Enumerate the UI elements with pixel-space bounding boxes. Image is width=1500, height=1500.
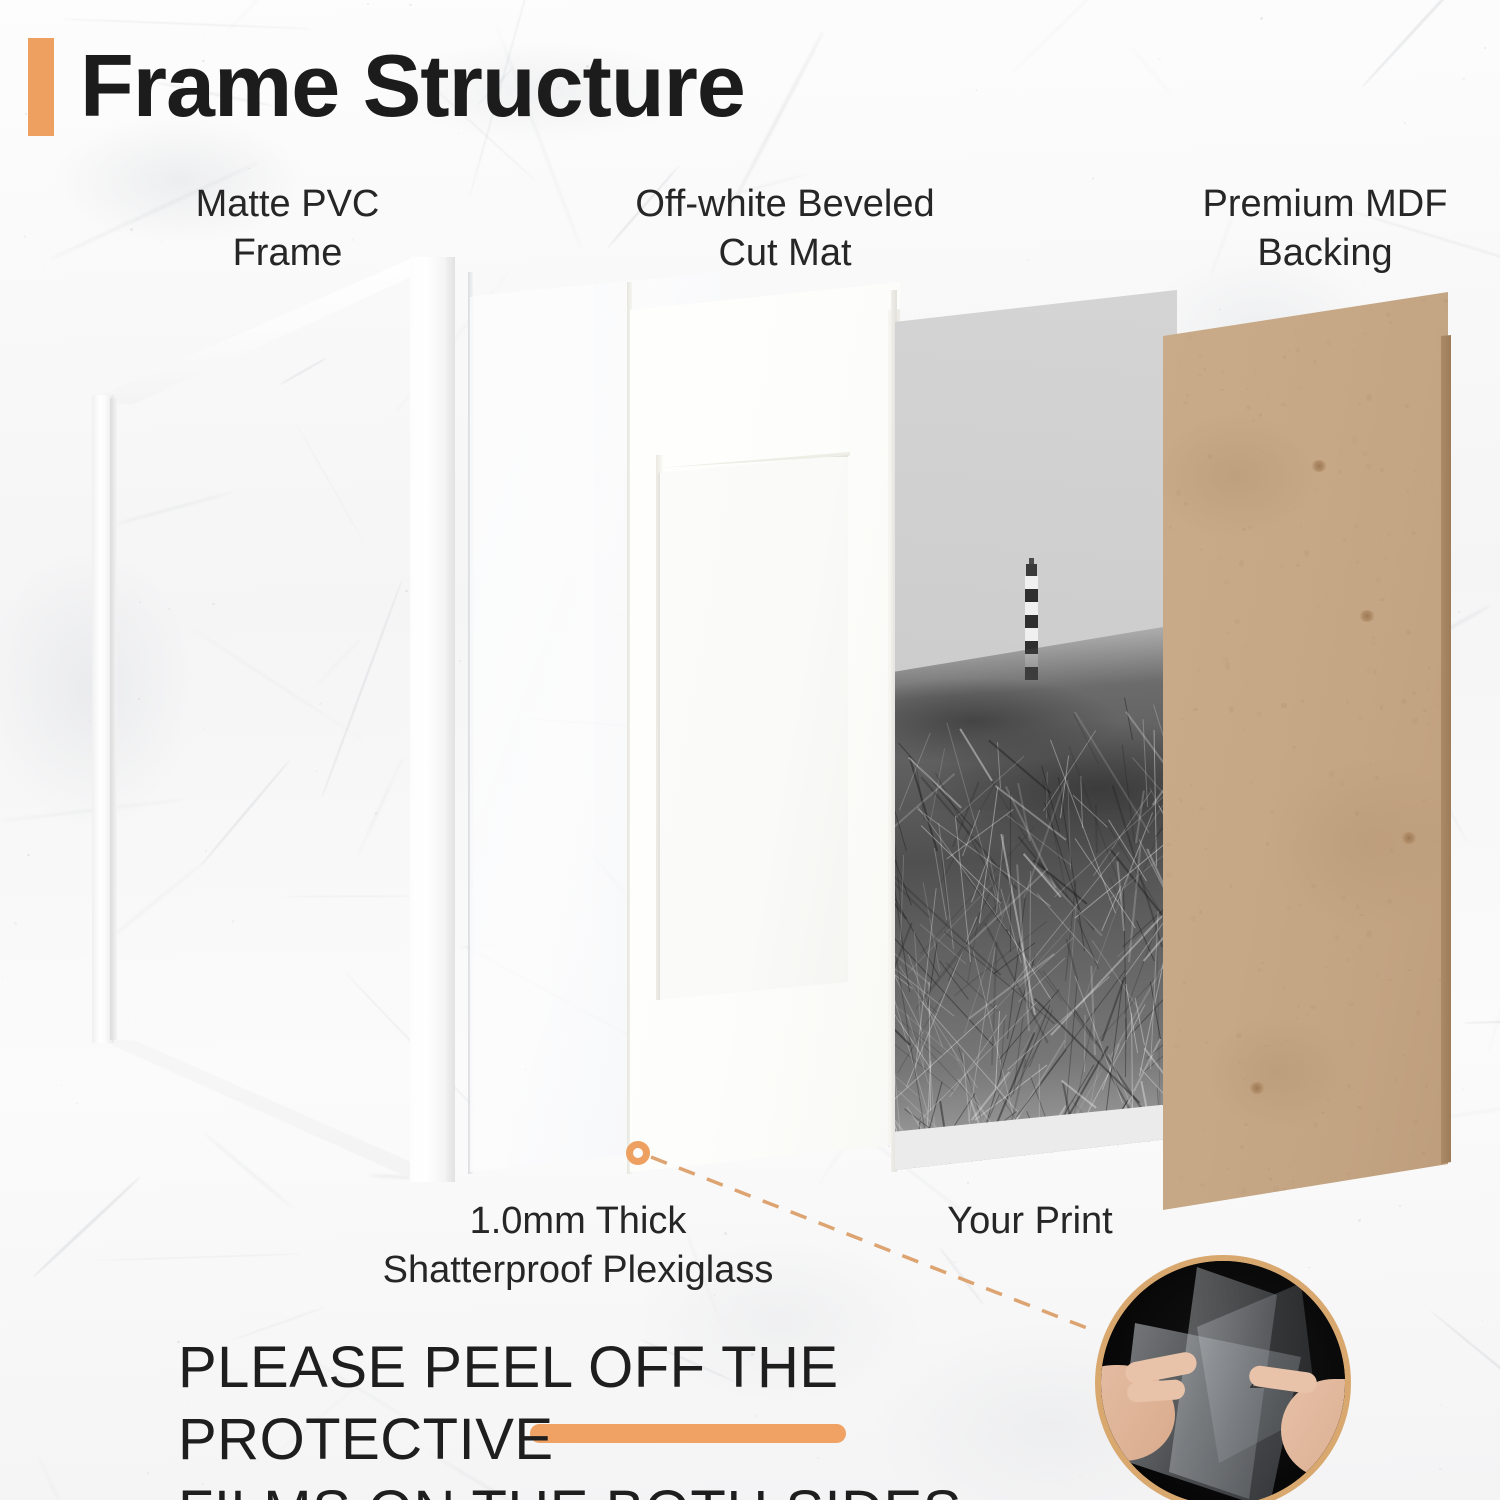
mdf-grain-fleck [1186, 394, 1189, 397]
mdf-grain-fleck [1314, 1079, 1316, 1081]
marble-speck [1031, 192, 1032, 193]
mdf-grain-fleck [1414, 470, 1417, 472]
title-accent-bar [28, 38, 54, 136]
mdf-grain-fleck [1403, 787, 1404, 788]
mdf-grain-fleck [1387, 899, 1392, 904]
mdf-grain-fleck [1380, 705, 1383, 709]
mdf-grain-fleck [1179, 1176, 1184, 1183]
mdf-grain-fleck [1301, 699, 1304, 703]
mdf-grain-fleck [1406, 630, 1411, 635]
mdf-grain-fleck [1292, 746, 1296, 749]
mdf-grain-fleck [1358, 825, 1359, 826]
mdf-grain-fleck [1240, 1145, 1244, 1149]
mdf-grain-fleck [1243, 698, 1244, 699]
mdf-grain-fleck [1275, 633, 1277, 634]
mdf-grain-fleck [1353, 350, 1355, 353]
mdf-grain-fleck [1169, 526, 1172, 529]
mdf-grain-fleck [1437, 705, 1438, 707]
mdf-grain-fleck [1197, 739, 1198, 740]
mdf-grain-fleck [1300, 525, 1302, 527]
mdf-grain-fleck [1280, 867, 1282, 868]
mdf-grain-fleck [1363, 332, 1367, 335]
mdf-grain-fleck [1341, 1167, 1343, 1169]
mdf-grain-fleck [1306, 873, 1308, 875]
marble-speck [14, 922, 17, 925]
mdf-grain-fleck [1179, 798, 1183, 803]
mdf-grain-fleck [1257, 687, 1259, 689]
mdf-grain-fleck [1382, 557, 1387, 560]
mdf-grain-fleck [1405, 404, 1409, 408]
mdf-grain-fleck [1326, 340, 1331, 346]
mdf-grain-fleck [1443, 299, 1448, 303]
mdf-grain-fleck [1267, 397, 1269, 398]
mdf-grain-fleck [1407, 787, 1409, 788]
marble-speck [43, 265, 44, 266]
mdf-grain-fleck [1184, 502, 1187, 506]
mdf-knot [1359, 610, 1375, 622]
mdf-grain-fleck [1287, 349, 1290, 351]
grass-blade [956, 756, 1024, 817]
mdf-grain-fleck [1296, 564, 1300, 567]
mdf-grain-fleck [1401, 699, 1407, 704]
mdf-grain-fleck [1188, 335, 1193, 341]
mdf-grain-fleck [1166, 843, 1171, 846]
mdf-grain-fleck [1386, 312, 1391, 317]
mdf-grain-fleck [1190, 784, 1193, 787]
mdf-grain-fleck [1422, 799, 1426, 802]
warning-text: PLEASE PEEL OFF THE PROTECTIVE FILMS ON … [178, 1332, 1078, 1500]
mdf-grain-fleck [1284, 978, 1285, 979]
mdf-grain-fleck [1236, 1033, 1242, 1038]
mdf-grain-fleck [1296, 1017, 1298, 1018]
mdf-grain-fleck [1364, 1122, 1366, 1124]
grass-blade [1125, 1018, 1126, 1077]
mdf-grain-fleck [1370, 666, 1371, 668]
mdf-grain-fleck [1329, 771, 1334, 777]
mdf-grain-fleck [1221, 370, 1225, 375]
mdf-grain-fleck [1229, 884, 1232, 888]
mdf-grain-fleck [1358, 715, 1362, 721]
mdf-grain-fleck [1284, 685, 1286, 686]
mdf-grain-fleck [1266, 842, 1269, 846]
callout-plexiglass-label: 1.0mm Thick Shatterproof Plexiglass [278, 1197, 878, 1295]
mdf-grain-fleck [1226, 1168, 1229, 1170]
mdf-grain-fleck [1289, 1164, 1292, 1167]
mdf-grain-fleck [1395, 855, 1400, 858]
mdf-grain-fleck [1427, 721, 1430, 726]
mdf-grain-fleck [1313, 1122, 1318, 1128]
mdf-grain-fleck [1413, 711, 1415, 712]
grass-blade [1029, 871, 1031, 1008]
mdf-grain-fleck [1257, 711, 1261, 716]
mdf-grain-fleck [1220, 389, 1224, 392]
mdf-grain-fleck [1169, 820, 1171, 822]
mdf-grain-fleck [1358, 402, 1361, 407]
mdf-grain-fleck [1191, 916, 1196, 922]
frame-right-edge [446, 257, 455, 1182]
mdf-grain-fleck [1387, 701, 1389, 702]
mdf-grain-fleck [1242, 727, 1245, 729]
marble-speck [1260, 17, 1263, 20]
marble-speck [1117, 1145, 1119, 1147]
mdf-grain-fleck [1335, 730, 1336, 731]
mdf-grain-fleck [1339, 780, 1345, 786]
mdf-grain-fleck [1347, 1084, 1351, 1089]
mdf-grain-fleck [1242, 528, 1246, 531]
mdf-grain-fleck [1234, 619, 1240, 624]
mdf-grain-fleck [1411, 531, 1416, 535]
mdf-grain-fleck [1189, 1160, 1191, 1161]
protective-film-inset-photo [1095, 1255, 1351, 1500]
mdf-grain-fleck [1299, 1150, 1302, 1152]
marble-speck [1482, 1320, 1483, 1321]
mdf-grain-fleck [1251, 1113, 1253, 1114]
mdf-grain-fleck [1318, 815, 1319, 816]
mdf-grain-fleck [1268, 1168, 1270, 1169]
mdf-grain-fleck [1204, 848, 1207, 850]
mdf-grain-fleck [1183, 981, 1186, 985]
mdf-grain-fleck [1346, 958, 1351, 962]
mat-window-opening [658, 455, 848, 1000]
marble-speck [1027, 259, 1029, 261]
mdf-grain-fleck [1317, 1095, 1320, 1097]
mdf-grain-fleck [1265, 964, 1267, 966]
mdf-grain-fleck [1375, 973, 1380, 977]
mdf-grain-fleck [1360, 888, 1361, 890]
mdf-grain-fleck [1310, 1005, 1316, 1009]
mdf-grain-fleck [1276, 401, 1278, 402]
mdf-grain-fleck [1164, 533, 1166, 535]
marble-speck [409, 4, 412, 7]
frame-opening [117, 403, 411, 1039]
mdf-grain-fleck [1205, 1041, 1208, 1044]
mdf-grain-fleck [1421, 1152, 1425, 1155]
mdf-grain-fleck [1401, 303, 1402, 305]
marble-speck [25, 113, 27, 115]
mdf-grain-fleck [1206, 897, 1207, 898]
mdf-grain-fleck [1311, 884, 1316, 888]
mdf-grain-fleck [1394, 1077, 1399, 1083]
mdf-grain-fleck [1304, 550, 1309, 556]
mdf-grain-fleck [1286, 1040, 1288, 1042]
mdf-grain-fleck [1387, 533, 1392, 538]
mdf-grain-fleck [1350, 1042, 1354, 1044]
mdf-grain-fleck [1335, 935, 1340, 940]
mdf-grain-fleck [1423, 709, 1427, 712]
mdf-grain-fleck [1413, 1120, 1418, 1124]
mdf-grain-fleck [1281, 703, 1287, 708]
mdf-grain-fleck [1369, 690, 1370, 691]
mdf-grain-fleck [1198, 374, 1203, 377]
mdf-grain-fleck [1355, 811, 1359, 816]
mdf-grain-fleck [1298, 844, 1300, 845]
mdf-grain-fleck [1203, 368, 1207, 372]
marble-speck [1440, 1404, 1442, 1406]
mdf-grain-fleck [1403, 1054, 1406, 1057]
mdf-grain-fleck [1178, 364, 1180, 367]
mdf-grain-fleck [1421, 299, 1426, 302]
mdf-grain-fleck [1261, 962, 1265, 964]
mdf-grain-fleck [1348, 1003, 1353, 1006]
mdf-grain-fleck [1270, 810, 1274, 815]
mdf-grain-fleck [1380, 540, 1382, 542]
mdf-grain-fleck [1357, 945, 1362, 949]
mdf-grain-fleck [1264, 1045, 1268, 1047]
mdf-grain-fleck [1379, 598, 1384, 601]
infographic-canvas: Frame Structure Matte PVC Frame Off-whi [0, 0, 1500, 1500]
mdf-grain-fleck [1321, 1112, 1325, 1115]
layer-pvc-frame [60, 255, 490, 1195]
mdf-grain-fleck [1371, 641, 1377, 645]
page-title: Frame Structure [80, 32, 745, 140]
mdf-grain-fleck [1411, 1132, 1413, 1135]
mdf-grain-fleck [1338, 470, 1342, 473]
mdf-grain-fleck [1297, 386, 1301, 391]
callout-mat-label: Off-white Beveled Cut Mat [580, 180, 990, 278]
mdf-grain-fleck [1357, 1092, 1359, 1093]
mdf-grain-fleck [1326, 1099, 1330, 1101]
mdf-grain-fleck [1176, 489, 1181, 496]
mdf-grain-fleck [1410, 1167, 1411, 1168]
grass-blade [1123, 885, 1127, 1040]
mdf-grain-fleck [1349, 710, 1350, 711]
mdf-grain-fleck [1248, 526, 1252, 529]
mdf-grain-fleck [1244, 646, 1247, 649]
mdf-grain-fleck [1372, 636, 1375, 639]
mdf-grain-fleck [1242, 1079, 1245, 1081]
mdf-grain-fleck [1324, 966, 1328, 969]
marble-speck [2, 977, 3, 978]
mdf-grain-fleck [1366, 464, 1372, 469]
mdf-grain-fleck [1239, 560, 1244, 567]
mdf-grain-fleck [1288, 446, 1289, 447]
mdf-grain-fleck [1314, 487, 1320, 492]
mdf-grain-fleck [1356, 1135, 1357, 1136]
left-thumb [1126, 1379, 1185, 1403]
callout-frame-label: Matte PVC Frame [130, 180, 445, 278]
mdf-grain-fleck [1200, 548, 1203, 551]
mdf-grain-fleck [1278, 360, 1280, 361]
mdf-knot [1249, 1082, 1265, 1094]
mdf-grain-fleck [1316, 603, 1321, 608]
mdf-grain-fleck [1376, 1129, 1379, 1132]
mdf-grain-fleck [1181, 718, 1183, 720]
marble-speck [1496, 170, 1497, 171]
mdf-grain-fleck [1313, 360, 1317, 365]
mdf-right-edge [1441, 292, 1451, 1210]
plexiglass-gloss-highlight [474, 276, 594, 1168]
mdf-grain-fleck [1166, 871, 1172, 878]
mdf-grain-fleck [1381, 359, 1382, 360]
mdf-grain-fleck [1383, 303, 1385, 304]
mdf-grain-fleck [1174, 1044, 1180, 1049]
mdf-grain-fleck [1340, 449, 1342, 450]
mdf-grain-fleck [1296, 348, 1300, 353]
mdf-grain-fleck [1369, 762, 1372, 766]
marble-speck [1404, 122, 1406, 124]
plexiglass-marker-dot [626, 1141, 650, 1165]
mdf-grain-fleck [1354, 523, 1359, 529]
mdf-grain-fleck [1352, 436, 1358, 444]
mdf-grain-fleck [1376, 577, 1381, 582]
mdf-grain-fleck [1416, 1009, 1421, 1017]
marble-speck [967, 1182, 969, 1184]
mdf-grain-fleck [1192, 509, 1196, 512]
mdf-grain-fleck [1249, 781, 1253, 785]
mdf-grain-fleck [1305, 1012, 1309, 1016]
mdf-grain-fleck [1261, 450, 1263, 452]
mdf-grain-fleck [1297, 834, 1298, 836]
mdf-grain-fleck [1343, 538, 1346, 541]
dune-grass [895, 620, 1177, 1170]
mdf-grain-fleck [1297, 903, 1302, 906]
mdf-grain-fleck [1375, 776, 1379, 779]
mdf-grain-fleck [1347, 1173, 1350, 1175]
mdf-grain-fleck [1422, 884, 1423, 885]
mdf-grain-fleck [1406, 489, 1409, 493]
mdf-grain-fleck [1224, 609, 1226, 610]
mdf-grain-fleck [1297, 1004, 1300, 1008]
mdf-grain-fleck [1292, 1180, 1294, 1183]
mdf-grain-fleck [1252, 420, 1254, 422]
mdf-grain-fleck [1173, 387, 1174, 388]
mdf-grain-fleck [1279, 564, 1283, 568]
mdf-grain-fleck [1356, 905, 1359, 910]
mdf-grain-fleck [1238, 1061, 1241, 1064]
mdf-grain-fleck [1254, 372, 1256, 374]
mdf-grain-fleck [1193, 708, 1198, 711]
mdf-grain-fleck [1412, 717, 1418, 725]
layer-mdf-backing [1163, 292, 1448, 1210]
marble-speck [147, 1472, 149, 1474]
mdf-grain-fleck [1200, 1183, 1205, 1187]
mdf-grain-fleck [1276, 1102, 1278, 1105]
mdf-grain-fleck [1176, 1023, 1177, 1024]
mdf-grain-fleck [1229, 706, 1234, 713]
grass-blade [900, 855, 904, 940]
grass-blade [959, 729, 992, 782]
mdf-grain-fleck [1174, 828, 1178, 831]
mdf-grain-fleck [1216, 540, 1217, 541]
mdf-grain-fleck [1225, 662, 1231, 670]
mdf-grain-fleck [1286, 906, 1291, 910]
mdf-grain-fleck [1269, 1177, 1272, 1181]
callout-print-label: Your Print [880, 1197, 1180, 1246]
marble-speck [1439, 1468, 1441, 1470]
mdf-grain-fleck [1223, 657, 1229, 664]
marble-speck [1462, 1088, 1464, 1090]
mdf-grain-fleck [1219, 557, 1222, 560]
mdf-grain-fleck [1289, 429, 1291, 431]
grass-blade [921, 825, 1001, 903]
mdf-grain-fleck [1226, 631, 1231, 635]
mdf-grain-fleck [1283, 355, 1286, 359]
callout-backing-label: Premium MDF Backing [1140, 180, 1500, 278]
mdf-grain-fleck [1198, 980, 1200, 981]
mdf-grain-fleck [1281, 986, 1285, 990]
mdf-grain-fleck [1426, 686, 1429, 691]
mdf-grain-fleck [1204, 1129, 1206, 1131]
mdf-grain-fleck [1356, 561, 1359, 564]
mdf-grain-fleck [1259, 413, 1262, 418]
mdf-grain-fleck [1321, 728, 1323, 730]
mdf-grain-fleck [1199, 807, 1204, 812]
mdf-grain-fleck [1425, 1085, 1428, 1087]
mdf-grain-fleck [1373, 669, 1377, 675]
grass-blade [1084, 1015, 1086, 1072]
mdf-grain-fleck [1191, 471, 1193, 473]
mdf-grain-fleck [1353, 1037, 1355, 1038]
mdf-grain-fleck [1224, 580, 1229, 585]
mdf-grain-fleck [1258, 968, 1262, 972]
mdf-grain-fleck [1241, 1187, 1246, 1194]
mdf-grain-fleck [1246, 405, 1252, 411]
mdf-grain-fleck [1246, 388, 1250, 390]
mdf-grain-fleck [1380, 468, 1383, 472]
mdf-grain-fleck [1405, 812, 1406, 813]
mdf-grain-fleck [1244, 683, 1247, 685]
mdf-grain-fleck [1366, 669, 1371, 672]
mdf-grain-fleck [1389, 979, 1391, 981]
mdf-grain-fleck [1293, 508, 1295, 510]
mdf-grain-fleck [1281, 403, 1286, 406]
mdf-knot [1311, 460, 1327, 472]
mdf-grain-fleck [1412, 691, 1417, 695]
mdf-grain-fleck [1389, 321, 1392, 324]
mdf-grain-fleck [1436, 840, 1439, 842]
mdf-grain-fleck [1390, 398, 1391, 400]
mdf-grain-fleck [1366, 930, 1372, 938]
mdf-grain-fleck [1271, 1037, 1272, 1038]
mdf-grain-fleck [1175, 839, 1176, 841]
mdf-grain-fleck [1390, 849, 1392, 852]
mdf-grain-fleck [1183, 401, 1188, 406]
mdf-grain-fleck [1362, 451, 1368, 456]
mdf-grain-fleck [1199, 910, 1203, 914]
mdf-grain-fleck [1198, 355, 1203, 358]
grass-blade [1095, 805, 1098, 853]
mdf-grain-fleck [1239, 850, 1240, 851]
mdf-grain-fleck [1366, 394, 1371, 401]
mdf-knot [1401, 832, 1417, 844]
mdf-grain-fleck [1346, 701, 1349, 704]
mdf-grain-fleck [1431, 484, 1433, 486]
mdf-grain-fleck [1244, 1123, 1247, 1126]
mdf-grain-fleck [1428, 666, 1430, 669]
mdf-grain-fleck [1326, 594, 1330, 597]
mdf-grain-fleck [1295, 333, 1297, 335]
marble-speck [1458, 611, 1460, 613]
mdf-grain-fleck [1357, 1106, 1362, 1109]
mdf-grain-fleck [1341, 895, 1345, 900]
mdf-grain-fleck [1208, 454, 1212, 459]
mdf-grain-fleck [1359, 914, 1364, 917]
marble-speck [1358, 1219, 1361, 1222]
frame-left-inner-edge [110, 398, 117, 1040]
mdf-grain-fleck [1205, 399, 1206, 400]
layer-your-print [895, 290, 1177, 1170]
mdf-grain-fleck [1394, 520, 1395, 521]
mdf-grain-fleck [1178, 1029, 1182, 1033]
mdf-grain-fleck [1408, 969, 1412, 972]
mdf-grain-fleck [1197, 668, 1200, 671]
